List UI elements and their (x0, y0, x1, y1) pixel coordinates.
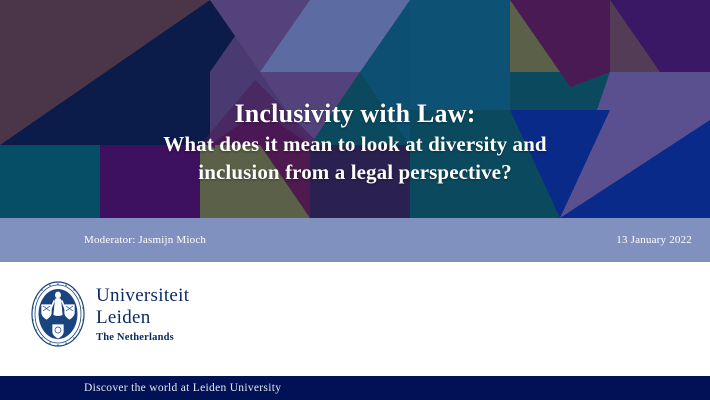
hero-banner: Inclusivity with Law: What does it mean … (0, 0, 710, 218)
logo-line-leiden: Leiden (96, 307, 189, 328)
logo-wordmark: Universiteit Leiden The Netherlands (96, 285, 189, 343)
slide-title-main: Inclusivity with Law: (234, 99, 475, 130)
leiden-university-logo: Universiteit Leiden The Netherlands (30, 280, 189, 348)
title-block: Inclusivity with Law: What does it mean … (0, 0, 710, 218)
footer-tagline: Discover the world at Leiden University (84, 382, 281, 394)
logo-line-netherlands: The Netherlands (96, 332, 189, 343)
meta-band: Moderator: Jasmijn Mioch 13 January 2022 (0, 218, 710, 262)
slide-title-sub-line2: inclusion from a legal perspective? (198, 159, 511, 186)
footer-bar: Discover the world at Leiden University (0, 376, 710, 400)
university-seal-icon (30, 280, 86, 348)
slide-body: Universiteit Leiden The Netherlands (0, 262, 710, 376)
logo-line-universiteit: Universiteit (96, 285, 189, 306)
moderator-label: Moderator: Jasmijn Mioch (84, 234, 206, 246)
date-label: 13 January 2022 (616, 234, 692, 246)
slide-title-sub-line1: What does it mean to look at diversity a… (163, 131, 546, 158)
presentation-slide: Inclusivity with Law: What does it mean … (0, 0, 710, 400)
